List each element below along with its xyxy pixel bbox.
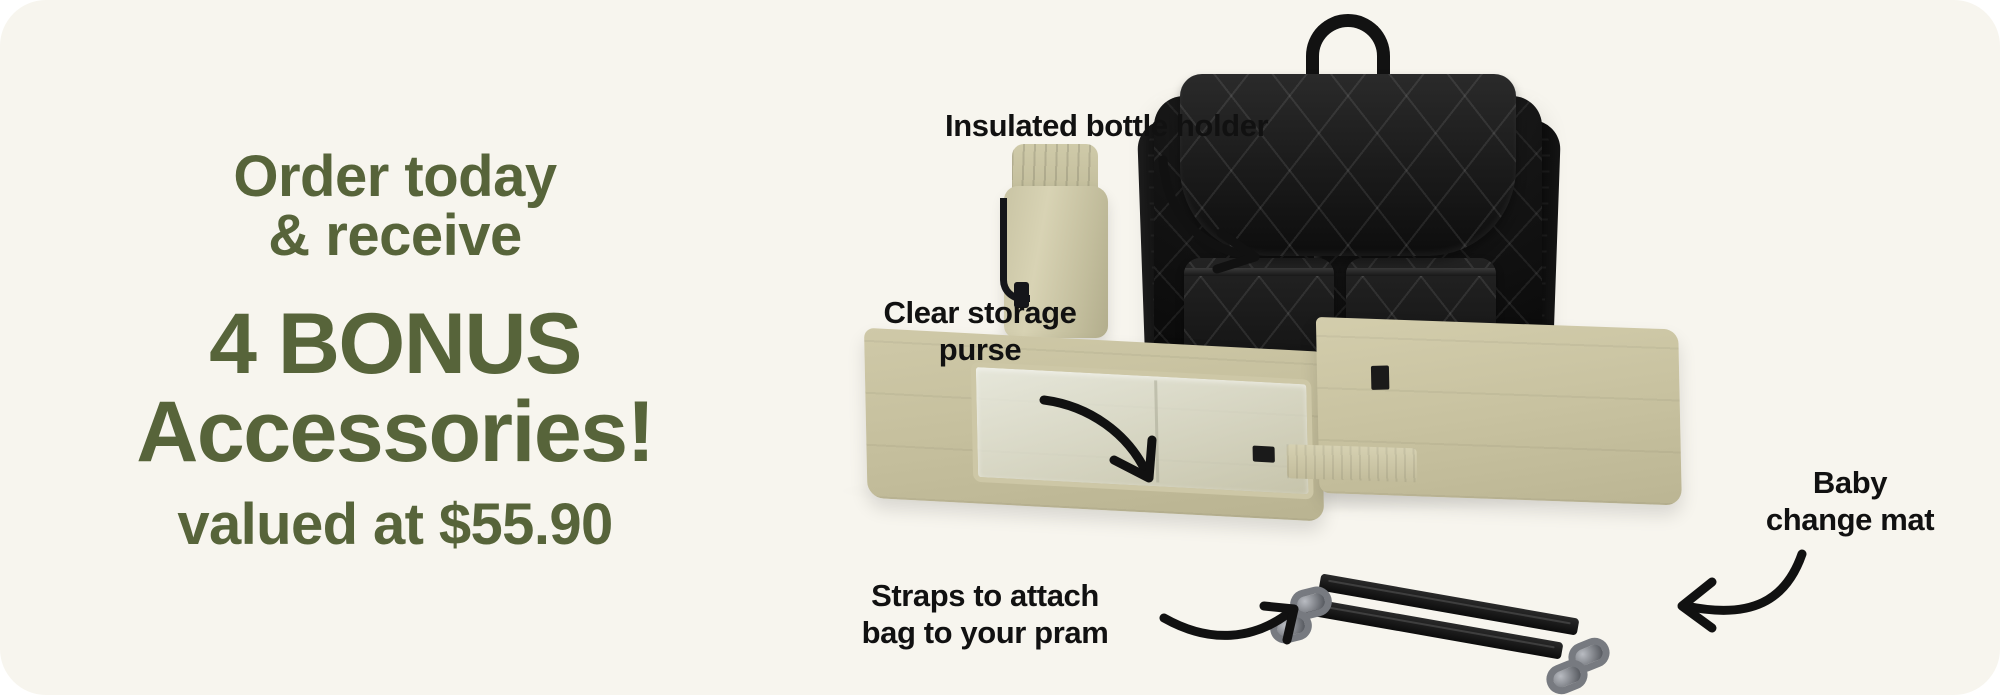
- change-mat-webbing-strap: [1287, 444, 1418, 482]
- curved-arrow-right-up-icon: [1148, 588, 1328, 680]
- change-mat-brand-tag: [1253, 446, 1275, 463]
- callout-label-clear-storage-purse: Clear storage purse: [855, 295, 1105, 368]
- promo-headline-line-2: Accessories!: [136, 388, 653, 477]
- promo-value-line: valued at $55.90: [177, 491, 612, 558]
- promo-banner: Order today & receive 4 BONUS Accessorie…: [0, 0, 2000, 695]
- pocket-zip-right: [1346, 268, 1496, 276]
- curved-arrow-down-right-icon: [1145, 138, 1345, 283]
- callout-label-baby-change-mat: Baby change mat: [1735, 465, 1965, 538]
- promo-headline: 4 BONUS Accessories!: [136, 300, 653, 477]
- change-mat-brand-tag-secondary: [1371, 365, 1389, 389]
- promo-line-2: & receive: [268, 206, 521, 265]
- curved-arrow-down-right-icon: [1018, 378, 1198, 503]
- promo-headline-line-1: 4 BONUS: [136, 300, 653, 389]
- promo-line-1: Order today: [233, 147, 556, 206]
- callout-label-straps-to-attach-pram: Straps to attach bag to your pram: [835, 578, 1135, 651]
- promo-copy-block: Order today & receive 4 BONUS Accessorie…: [0, 0, 790, 695]
- curved-arrow-down-left-icon: [1660, 548, 1860, 668]
